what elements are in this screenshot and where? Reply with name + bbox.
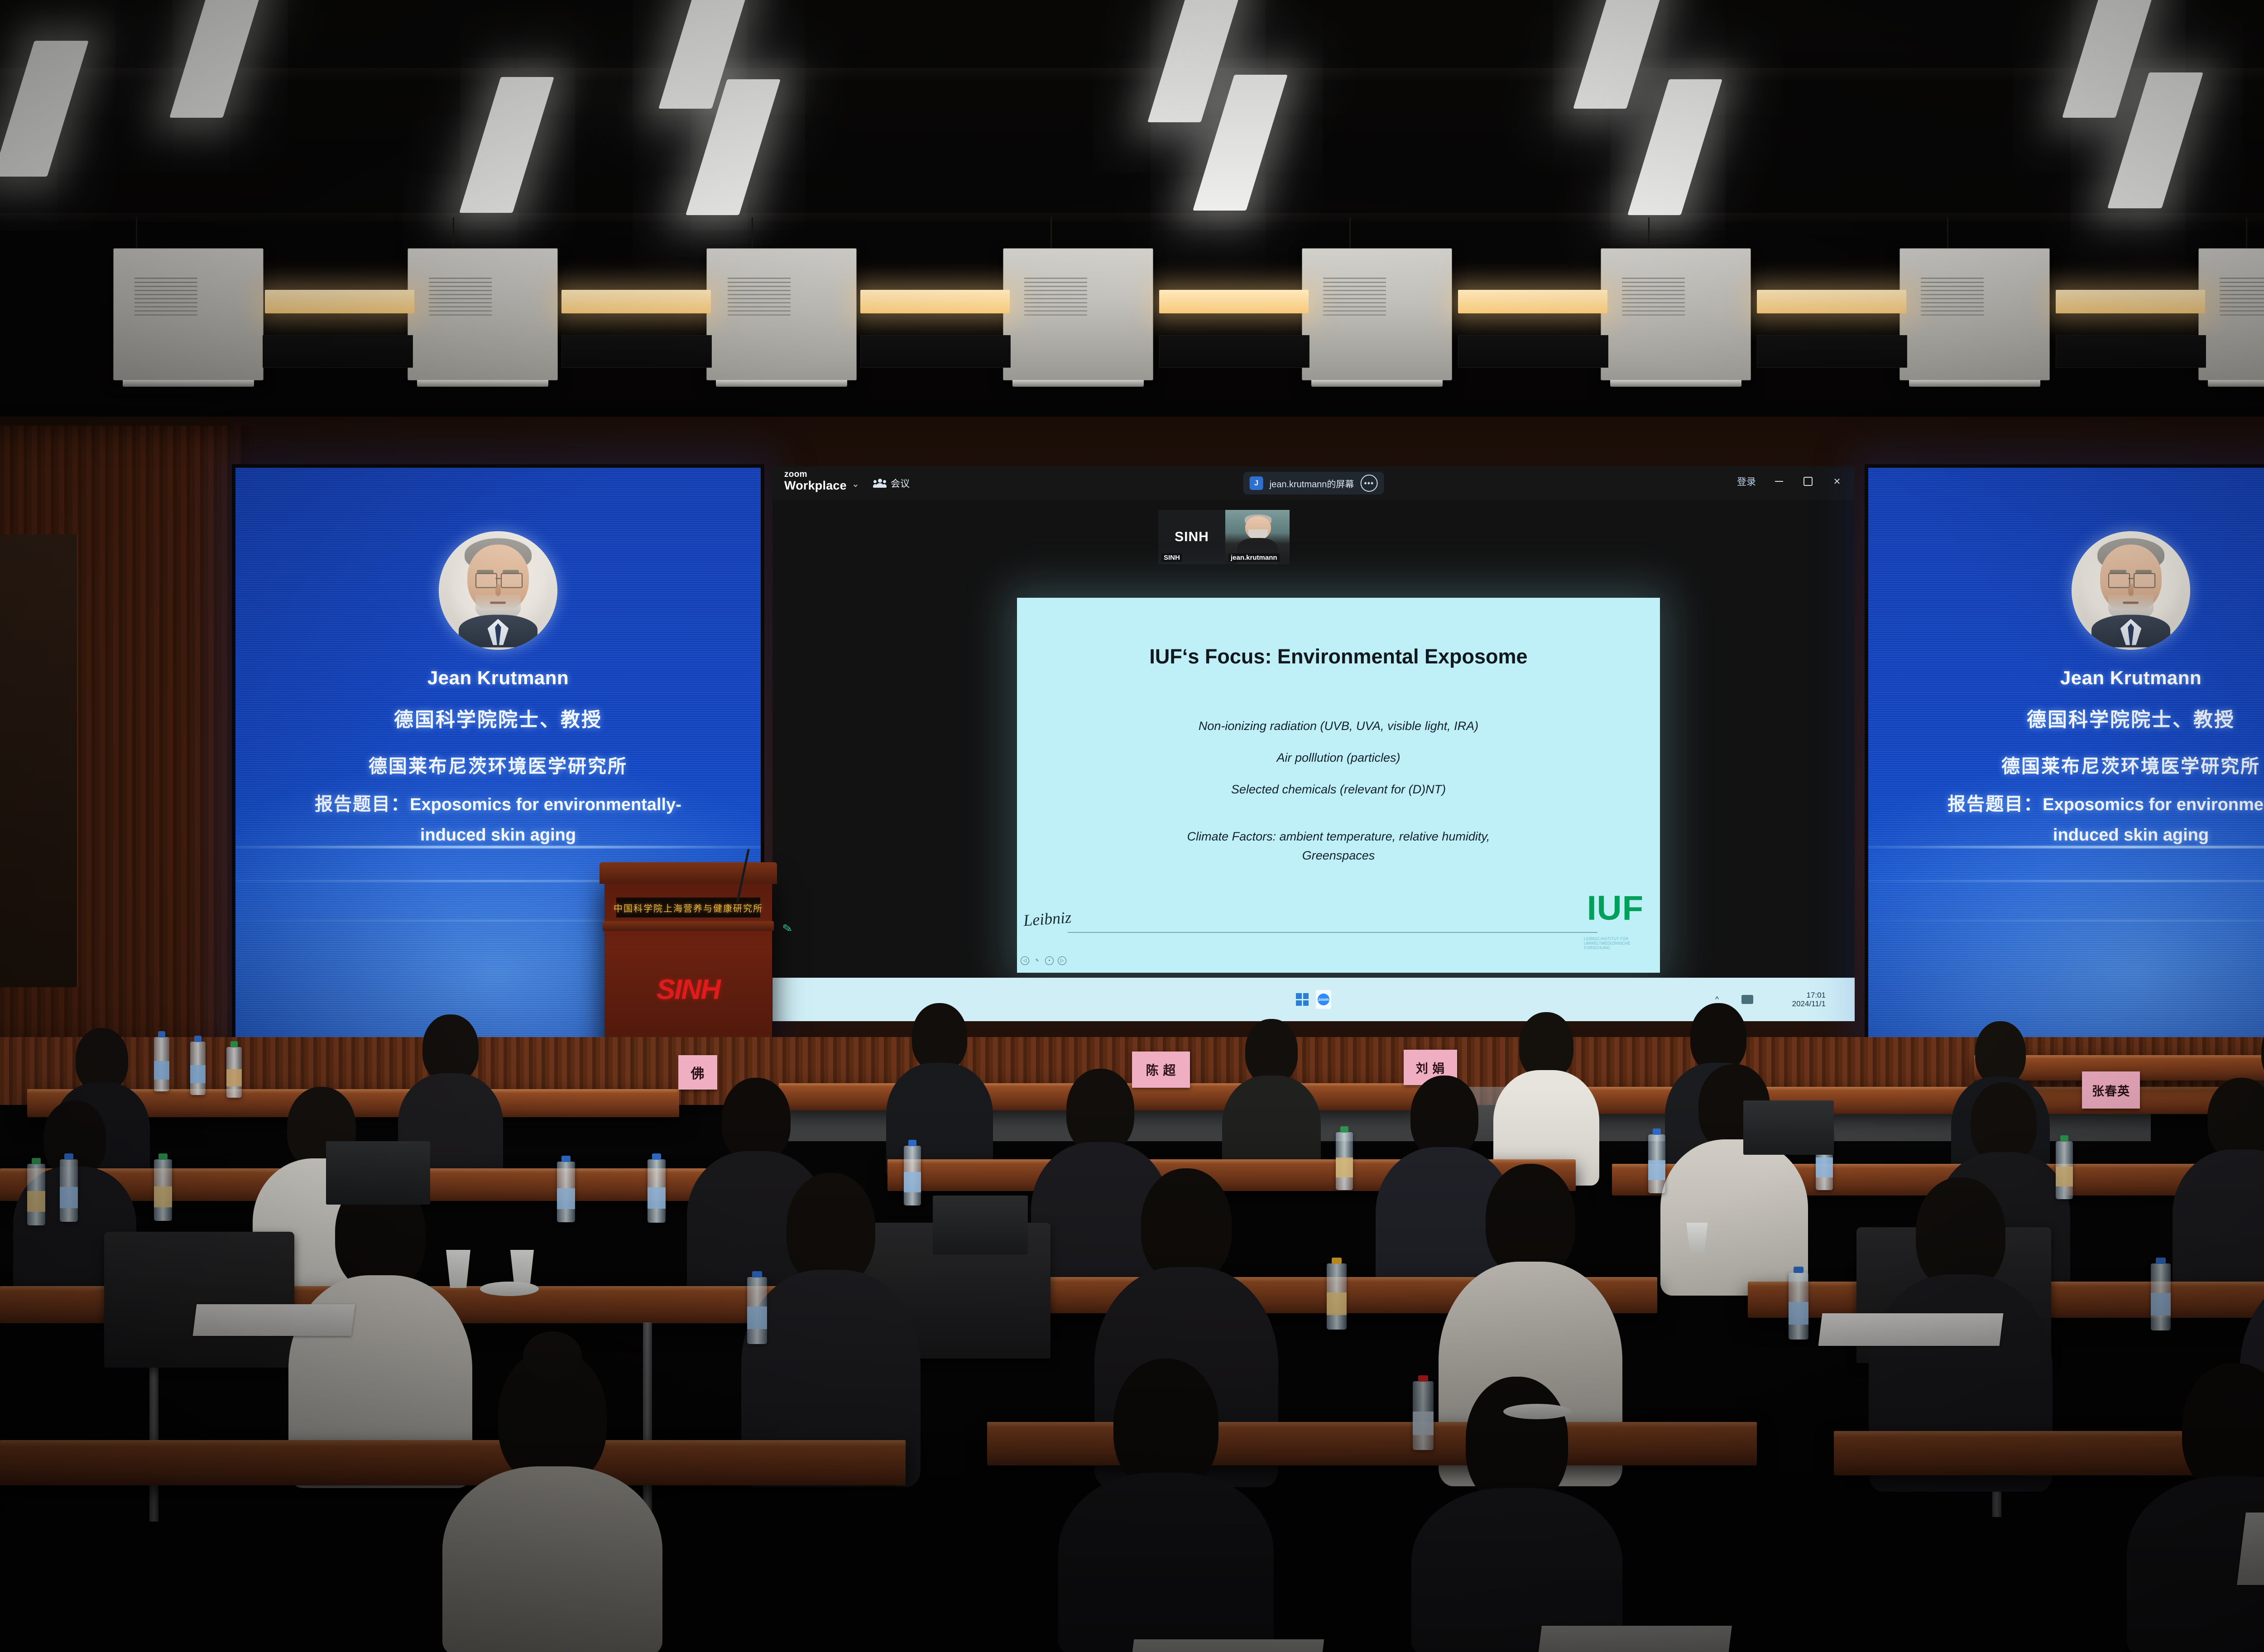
shared-slide: IUF‘s Focus: Environmental Exposome Non-… [1017,598,1660,973]
laptop[interactable] [1743,1100,1834,1155]
water-bottle [747,1277,767,1344]
speaker-institute: 德国莱布尼茨环境医学研究所 [235,751,761,778]
water-bottle [1789,1273,1808,1340]
participant-video-strip: SINH SINH jean.krutmann [1158,510,1290,564]
talk-title-row: 报告题目：Exposomics for environmentally- [235,789,761,816]
ceiling-projector-box [706,248,857,380]
beverage-bottle [226,1047,242,1098]
tile-avatar-text: SINH [1175,529,1209,545]
taskbar-zoom-glyph: zoom [1318,994,1329,1005]
zoom-brand-line1: zoom [784,470,847,479]
plate [1503,1404,1571,1419]
talk-title-line2: induced skin aging [235,826,761,845]
water-bottle [2151,1263,2171,1330]
tray-icon[interactable] [1741,995,1753,1004]
meetings-tab[interactable]: 会议 [873,476,910,490]
tile-name-label: SINH [1161,553,1182,562]
screen-share-indicator[interactable]: J jean.krutmann的屏幕 ••• [1243,472,1384,495]
ceiling-light [0,41,89,177]
slide-title: IUF‘s Focus: Environmental Exposome [1017,645,1660,668]
ceiling-light [459,77,554,213]
slide-footer-rule [1068,932,1597,933]
audience-member [1060,1359,1272,1652]
beverage-bottle [2056,1141,2073,1199]
audience-member [1413,1377,1621,1652]
zoom-brand-line2: Workplace [784,479,847,492]
share-avatar: J [1250,476,1263,490]
ceiling-projector-box [1601,248,1751,380]
annotate-pen-icon[interactable]: ✎ [781,921,793,936]
chevron-down-icon[interactable]: ⌄ [852,478,859,490]
talk-title-line1: Exposomics for environmentally- [2043,795,2264,814]
water-bottle [557,1162,575,1222]
tile-name-label: jean.krutmann [1228,553,1280,562]
iuf-logo-subtext: LEIBNIZ-INSTITUT FÜR UMWELT­MEDIZINISCHE… [1584,936,1644,950]
window-controls: 登录 ✕ [1737,475,1843,488]
talk-title-line1: Exposomics for environmentally- [410,795,681,814]
podium-plate-text: 中国科学院上海营养与健康研究所 [614,901,763,914]
audience-member [444,1349,661,1652]
chair-back [104,1232,294,1368]
slide-bullet: Climate Factors: ambient temperature, re… [1017,830,1660,844]
ceiling [0,0,2264,435]
ceiling-projector-box [1899,248,2050,380]
ceiling-projector-box [1302,248,1452,380]
table-name-card: 张春英 [2082,1071,2140,1109]
water-bottle [60,1159,78,1222]
start-icon[interactable] [1296,993,1309,1006]
audience-member [2128,1363,2264,1652]
water-bottle [154,1037,169,1091]
speaker-title: 德国科学院院士、教授 [235,704,761,732]
audience-member [1662,1064,1807,1295]
podium-shelf [603,921,773,931]
paper-document [1537,1626,1732,1652]
beverage-bottle [1327,1263,1347,1330]
video-tile-jean-krutmann[interactable]: jean.krutmann [1225,510,1290,564]
slide-bullet: Non-ionizing radiation (UVB, UVA, visibl… [1017,719,1660,733]
name-card-text: 刘 娟 [1416,1059,1445,1076]
slide-bullet: Selected chemicals (relevant for (D)NT) [1017,783,1660,797]
speaker-portrait [2072,531,2190,650]
lecture-hall-scene: Jean Krutmann 德国科学院院士、教授 德国莱布尼茨环境医学研究所 报… [0,0,2264,1652]
laptop[interactable] [933,1196,1028,1254]
iuf-logo: IUF [1587,893,1644,924]
zoom-brand: zoom Workplace [784,470,847,492]
slide-bullet: Greenspaces [1017,849,1660,863]
zoom-application-window[interactable]: zoom Workplace ⌄ 会议 J jean.krutmann的屏幕 •… [772,466,1855,1021]
ceiling-projector-box [408,248,558,380]
beverage-bottle [27,1164,45,1225]
clock-date: 2024/11/1 [1792,999,1826,1008]
paper-document [1818,1313,2004,1346]
speaker-name: Jean Krutmann [235,667,761,689]
restore-button[interactable] [1802,475,1814,487]
sign-in-button[interactable]: 登录 [1737,475,1756,488]
water-bottle [648,1159,666,1223]
minimize-button[interactable] [1773,475,1785,487]
name-card-text: 张春英 [2092,1081,2130,1099]
paper-cup [508,1250,536,1286]
speaker-portrait [439,531,557,650]
pen-tool-icon[interactable]: ✎ [1033,957,1041,965]
audience-member [887,1003,992,1175]
beverage-bottle [1336,1132,1353,1190]
talk-label: 报告题目： [1947,794,2043,814]
slide-menu-icon[interactable]: • [1045,956,1054,965]
more-options-icon[interactable]: ••• [1360,475,1377,492]
ceiling-projector-box [113,248,264,380]
next-slide-icon[interactable]: ▷ [1058,956,1066,965]
ceiling-light [1573,0,1668,109]
video-tile-sinh[interactable]: SINH SINH [1158,510,1225,564]
leibniz-signature: Leibniz [1023,908,1072,930]
ceiling-light [1627,79,1722,215]
clock-time: 17:01 [1792,991,1826,999]
prev-slide-icon[interactable]: ◁ [1021,956,1029,965]
speaker-institute: 德国莱布尼茨环境医学研究所 [1868,751,2264,778]
meetings-label: 会议 [891,476,910,490]
beverage-bottle [154,1159,172,1221]
audience-member [743,1173,919,1485]
water-bottle [1648,1134,1665,1193]
ceiling-light [169,0,264,118]
speaker-podium: 中国科学院上海营养与健康研究所 SINH [604,874,772,1064]
talk-label: 报告题目： [315,794,410,814]
room-door [0,534,78,987]
paper-document [193,1304,355,1336]
paper-document [1130,1639,1324,1652]
slideshow-controls[interactable]: ◁ ✎ • ▷ [1021,956,1066,965]
sinh-logo: SINH [604,974,772,1006]
taskbar-clock[interactable]: 17:01 2024/11/1 [1792,991,1826,1008]
podium-top [600,862,777,884]
speaker-name: Jean Krutmann [1868,667,2264,689]
right-display-screen: Jean Krutmann 德国科学院院士、教授 德国莱布尼茨环境医学研究所 报… [1865,464,2264,1044]
zoom-title-bar: zoom Workplace ⌄ 会议 J jean.krutmann的屏幕 •… [772,466,1855,500]
ceiling-projector-box [2198,248,2264,380]
water-bottle [1413,1381,1434,1450]
close-button[interactable]: ✕ [1831,475,1843,487]
talk-title-row: 报告题目：Exposomics for environmentally- [1868,789,2264,816]
talk-title-line2: induced skin aging [1868,826,2264,845]
laptop[interactable] [326,1141,430,1205]
ceiling-projector-box [1003,248,1153,380]
plate [480,1282,539,1296]
speaker-title: 德国科学院院士、教授 [1868,704,2264,732]
water-bottle [904,1146,921,1205]
taskbar-zoom-icon[interactable]: zoom [1316,990,1331,1009]
audience-member [1223,1019,1320,1177]
slide-bullet: Air polllution (particles) [1017,751,1660,765]
show-hidden-icons-caret[interactable]: ^ [1715,995,1719,1004]
water-bottle [190,1042,206,1095]
people-icon [873,479,887,488]
share-label: jean.krutmann的屏幕 [1270,477,1354,490]
